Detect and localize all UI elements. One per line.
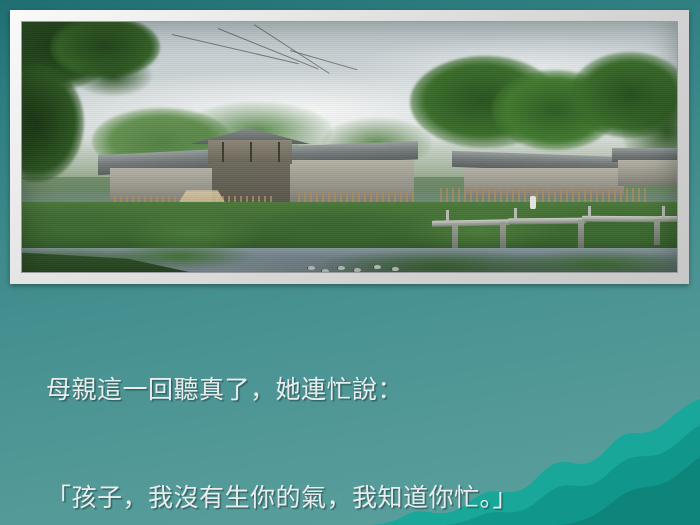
bridge-post-3 (588, 206, 591, 218)
gable-timber-3 (278, 142, 280, 162)
duck-4 (354, 268, 361, 272)
duck-6 (392, 267, 399, 271)
bridge-post-4 (662, 206, 665, 218)
person-body (530, 196, 536, 209)
slide-body-text: 母親這一回聽真了，她連忙說： 「孩子，我沒有生你的氣，我知道你忙。」 可是沒幾天… (46, 300, 666, 525)
bridge-post-2 (514, 208, 517, 220)
photo-frame-inner (21, 21, 678, 273)
photo-frame (10, 10, 689, 284)
house-wall-farright (618, 160, 677, 186)
bridge-post-1 (446, 210, 449, 222)
paragraph-1-line-2: 「孩子，我沒有生你的氣，我知道你忙。」 (46, 480, 666, 516)
bridge-deck-2 (508, 218, 586, 225)
foliage-upper-left-4 (74, 56, 152, 96)
bridge-pier-4 (654, 219, 660, 245)
gable-timber-2 (250, 142, 252, 162)
duck-3 (338, 266, 345, 270)
bridge-deck-4 (658, 216, 677, 222)
duck-5 (374, 265, 381, 269)
village-photo (22, 22, 677, 272)
bamboo-fence-right (440, 188, 650, 202)
presentation-slide: 母親這一回聽真了，她連忙說： 「孩子，我沒有生你的氣，我知道你忙。」 可是沒幾天… (0, 0, 700, 525)
gable-timber-1 (222, 142, 224, 162)
duck-2 (322, 269, 329, 272)
duck-1 (308, 266, 315, 270)
bridge-deck-3 (582, 216, 662, 223)
paragraph-1-line-1: 母親這一回聽真了，她連忙說： (46, 372, 666, 408)
